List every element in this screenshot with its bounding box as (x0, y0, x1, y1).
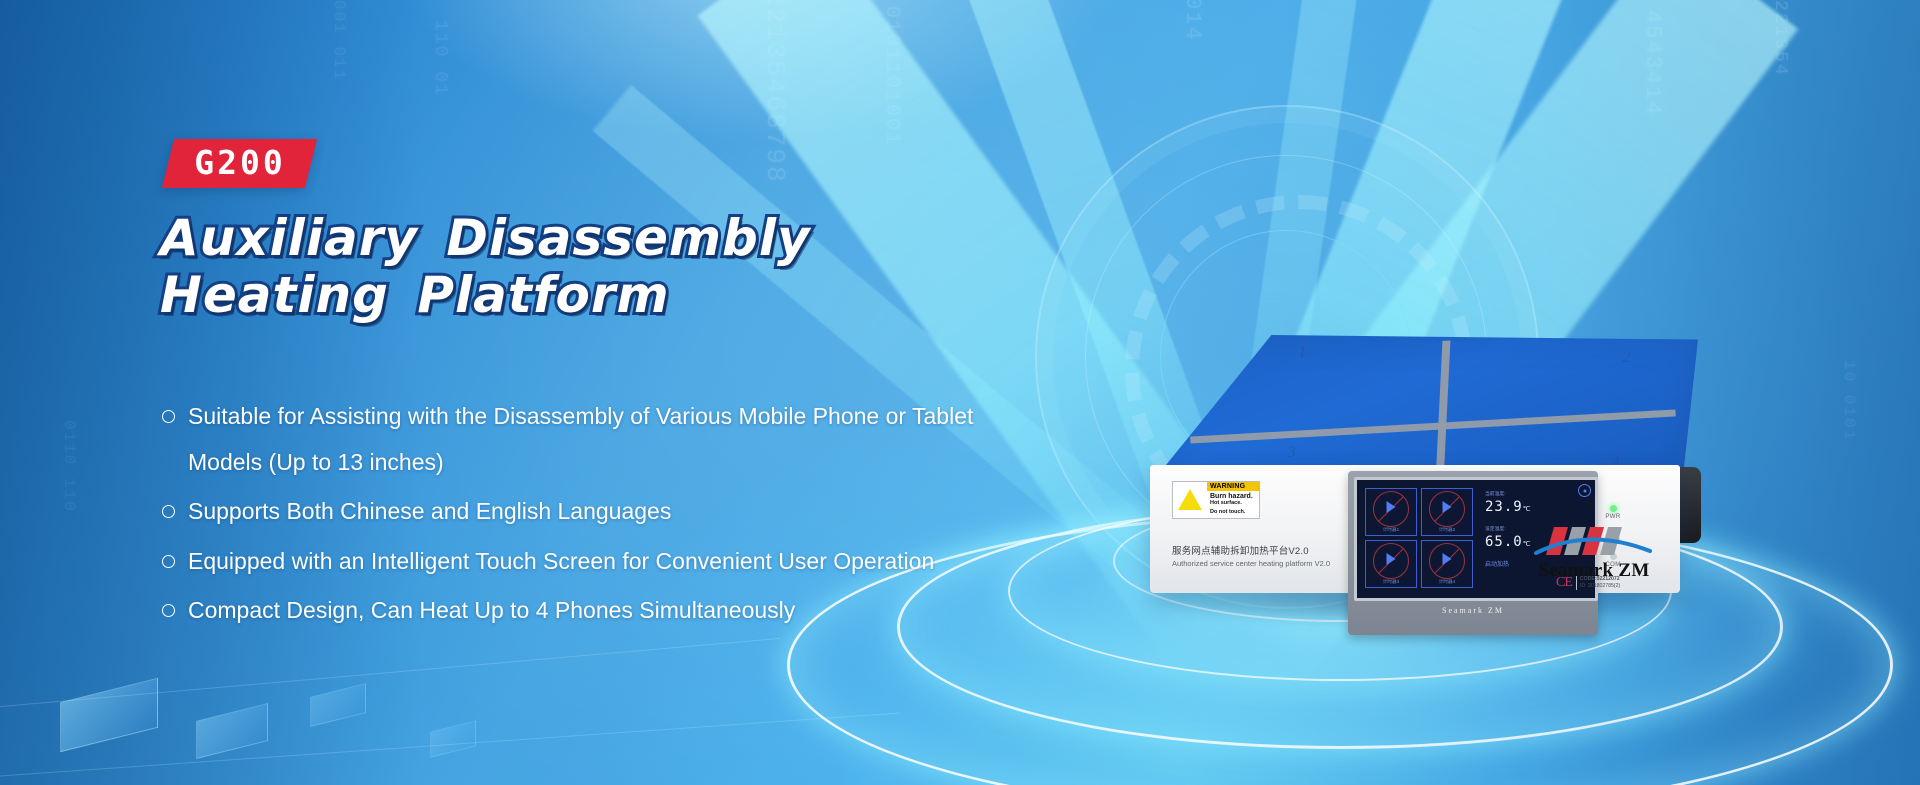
plate-zone-number: 1 (1298, 344, 1306, 362)
matrix-digit-column: 221354 (1770, 0, 1790, 77)
certification-code-line: CODE:02212072 (1580, 576, 1620, 582)
triangle-icon (1178, 489, 1202, 510)
channel-button[interactable]: 计时器4 (1421, 540, 1473, 588)
hot-surface-warning-icon (1173, 482, 1207, 518)
bullet-circle-icon (162, 505, 175, 518)
brand-logo: Seamark ZM (1524, 525, 1664, 582)
page-title: Auxiliary Disassembly Heating Platform (160, 210, 1020, 324)
channel-label: 计时器2 (1422, 527, 1472, 533)
play-icon (1387, 553, 1396, 565)
warning-line-2: Hot surface. (1207, 500, 1259, 509)
list-item-label: Suitable for Assisting with the Disassem… (188, 394, 1022, 485)
list-item: Suitable for Assisting with the Disassem… (162, 394, 1022, 485)
certification-code: CODE:02212072 ID: 201802785(2) (1576, 576, 1620, 590)
channel-label: 计时器1 (1366, 527, 1416, 533)
play-icon (1443, 501, 1452, 513)
plate-zone-number: 3 (1288, 444, 1296, 462)
machine-front-panel: WARNING Burn hazard. Hot surface. Do not… (1150, 465, 1680, 593)
status-indicator: PWR (1596, 505, 1630, 520)
channel-label: 计时器4 (1422, 579, 1472, 585)
warning-text-block: WARNING Burn hazard. Hot surface. Do not… (1207, 482, 1259, 518)
product-banner: 22135468798 0101101001 014 4543414 22135… (0, 0, 1920, 785)
certification-id-line: ID: 201802785(2) (1580, 583, 1620, 589)
plate-divider-vertical (1435, 341, 1450, 482)
bullet-circle-icon (162, 555, 175, 568)
list-item: Compact Design, Can Heat Up to 4 Phones … (162, 588, 1022, 634)
matrix-digit-column: 014 (1180, 0, 1205, 42)
model-name-chinese: 服务网点辅助拆卸加热平台V2.0 (1172, 543, 1352, 557)
list-item: Supports Both Chinese and English Langua… (162, 489, 1022, 535)
play-icon (1443, 553, 1452, 565)
settings-gear-icon[interactable] (1578, 484, 1591, 497)
power-led-label: PWR (1605, 514, 1620, 520)
warning-line-1: Burn hazard. (1207, 491, 1259, 500)
channel-button[interactable]: 计时器3 (1365, 540, 1417, 588)
readout-spacer (1485, 515, 1571, 525)
model-badge: G200 (162, 139, 318, 188)
model-badge-label: G200 (194, 146, 285, 179)
list-item-label: Supports Both Chinese and English Langua… (188, 489, 1022, 535)
list-item: Equipped with an Intelligent Touch Scree… (162, 539, 1022, 585)
current-temp-label: 当前温度: (1485, 490, 1571, 497)
logo-svg (1524, 525, 1664, 559)
plate-zone-number: 2 (1622, 349, 1630, 367)
channel-button[interactable]: 计时器2 (1421, 488, 1473, 536)
seamark-logo-icon (1524, 525, 1664, 559)
banner-copy: G200 Auxiliary Disassembly Heating Platf… (0, 0, 1020, 785)
machine-model-text: 服务网点辅助拆卸加热平台V2.0 Authorized service cent… (1172, 543, 1352, 569)
product-machine: 1 2 3 4 WARNING Burn hazard. Hot surface… (1150, 335, 1710, 605)
current-temp-number: 23.9 (1485, 499, 1523, 515)
certification-marks: CE CODE:02212072 ID: 201802785(2) (1556, 575, 1620, 591)
channel-button-grid[interactable]: 计时器1 计时器2 计时器3 (1365, 488, 1473, 588)
plate-divider-horizontal (1191, 410, 1677, 444)
list-item-label: Equipped with an Intelligent Touch Scree… (188, 539, 1022, 585)
bullet-circle-icon (162, 410, 175, 423)
current-temp-value: 23.9℃ (1485, 499, 1571, 515)
list-item-label: Compact Design, Can Heat Up to 4 Phones … (188, 588, 1022, 634)
channel-button[interactable]: 计时器1 (1365, 488, 1417, 536)
model-name-english: Authorized service center heating platfo… (1172, 559, 1352, 569)
feature-list: Suitable for Assisting with the Disassem… (162, 394, 1022, 638)
ce-mark-icon: CE (1556, 575, 1572, 591)
set-temp-number: 65.0 (1485, 534, 1523, 550)
channel-label: 计时器3 (1366, 579, 1416, 585)
panel-brand-label: Seamark ZM (1354, 606, 1592, 615)
current-temp-unit: ℃ (1523, 505, 1532, 513)
play-icon (1387, 501, 1396, 513)
warning-heading: WARNING (1207, 482, 1259, 491)
matrix-digit-column: 4543414 (1640, 10, 1665, 116)
power-led-icon (1610, 505, 1617, 512)
bullet-circle-icon (162, 604, 175, 617)
warning-label: WARNING Burn hazard. Hot surface. Do not… (1172, 481, 1260, 519)
warning-line-3: Do not touch. (1207, 509, 1259, 518)
